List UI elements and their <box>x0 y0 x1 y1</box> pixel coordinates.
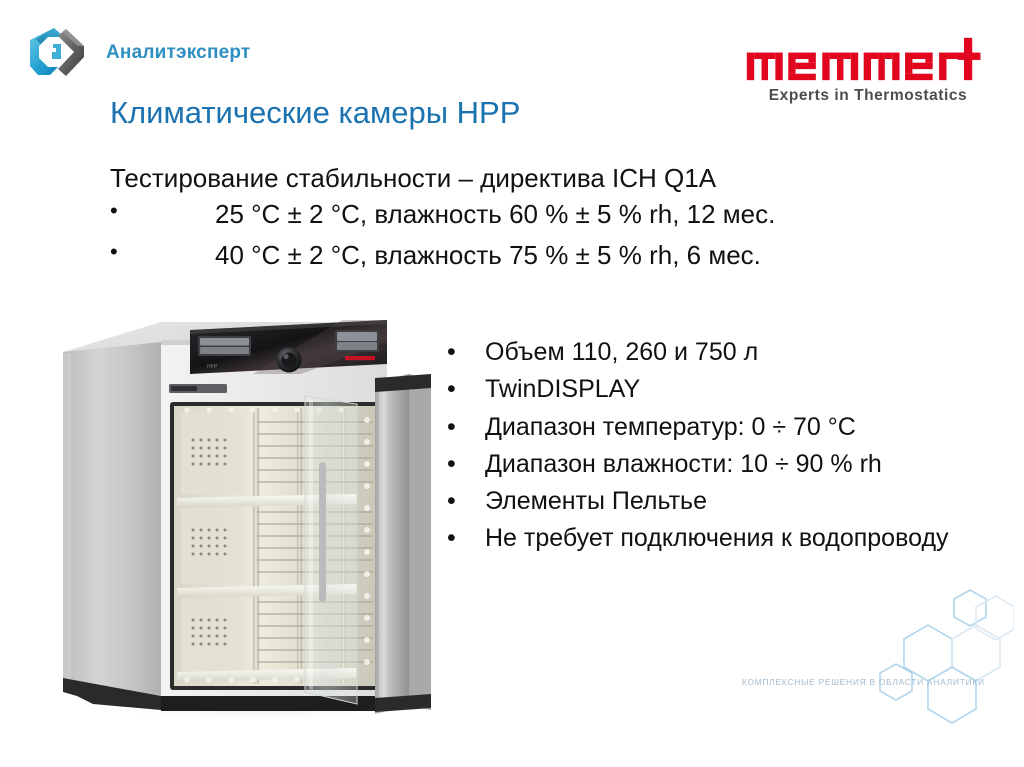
intro-list-item: • 40 °C ± 2 °C, влажность 75 % ± 5 % rh,… <box>110 235 950 275</box>
bullet-icon: • <box>447 521 485 555</box>
spec-item-label: TwinDISPLAY <box>485 372 1007 406</box>
memmert-wordmark-icon <box>745 36 992 82</box>
intro-item-label: 25 °C ± 2 °C, влажность 60 % ± 5 % rh, 1… <box>215 194 950 234</box>
hexagon-watermark-icon: КОМПЛЕКСНЫЕ РЕШЕНИЯ В ОБЛАСТИ АНАЛИТИКИ <box>714 587 1014 735</box>
inner-glass-door <box>305 396 357 704</box>
bullet-icon: • <box>447 410 485 444</box>
bullet-icon: • <box>447 372 485 406</box>
intro-lead: Тестирование стабильности – директива IC… <box>110 162 950 194</box>
brand-logo: Аналитэксперт <box>28 24 250 82</box>
spec-list-item: • Объем 110, 260 и 750 л <box>447 335 1007 369</box>
svg-text:HPP: HPP <box>207 364 218 370</box>
spec-list-item: • Элементы Пельтье <box>447 484 1007 518</box>
spec-list-item: • TwinDISPLAY <box>447 372 1007 406</box>
bullet-icon: • <box>447 335 485 369</box>
intro-list-item: • 25 °C ± 2 °C, влажность 60 % ± 5 % rh,… <box>110 194 950 234</box>
bullet-icon: • <box>447 447 485 481</box>
watermark-text: КОМПЛЕКСНЫЕ РЕШЕНИЯ В ОБЛАСТИ АНАЛИТИКИ <box>742 677 985 687</box>
memmert-tagline: Experts in Thermostatics <box>734 87 1002 105</box>
brand-name: Аналитэксперт <box>106 42 250 64</box>
spec-list-item: • Не требует подключения к водопроводу <box>447 521 1007 555</box>
bullet-icon: • <box>447 484 485 518</box>
spec-item-label: Элементы Пельтье <box>485 484 1007 518</box>
bullet-icon: • <box>110 194 215 234</box>
bullet-icon: • <box>110 235 215 275</box>
analitexpert-logo-icon <box>28 24 92 82</box>
intro-item-label: 40 °C ± 2 °C, влажность 75 % ± 5 % rh, 6… <box>215 235 950 275</box>
spec-list-item: • Диапазон влажности: 10 ÷ 90 % rh <box>447 447 1007 481</box>
memmert-hpp-climate-chamber-photo: HPP <box>57 312 439 722</box>
spec-item-label: Объем 110, 260 и 750 л <box>485 335 1007 369</box>
spec-list-item: • Диапазон температур: 0 ÷ 70 °C <box>447 410 1007 444</box>
intro-block: Тестирование стабильности – директива IC… <box>110 162 950 275</box>
outer-door-panel <box>375 374 431 714</box>
spec-item-label: Диапазон влажности: 10 ÷ 90 % rh <box>485 447 1007 481</box>
spec-item-label: Диапазон температур: 0 ÷ 70 °C <box>485 410 1007 444</box>
specs-list: • Объем 110, 260 и 750 л • TwinDISPLAY •… <box>447 335 1007 559</box>
spec-item-label: Не требует подключения к водопроводу <box>485 521 1007 555</box>
page-title: Климатические камеры HPP <box>110 95 520 131</box>
glass-door-handle-icon <box>319 462 326 602</box>
memmert-logo: Experts in Thermostatics <box>734 36 1002 105</box>
